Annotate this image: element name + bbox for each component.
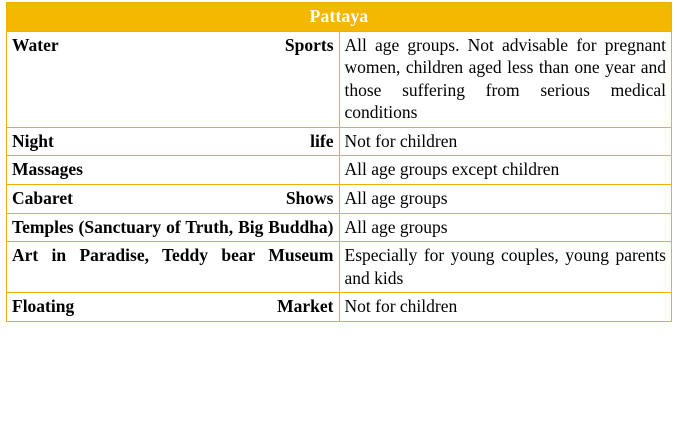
pattaya-activity-table: Pattaya Water Sports All age groups. Not… — [6, 2, 672, 322]
activity-label: Water Sports — [12, 35, 334, 55]
detail-text: All age groups — [345, 188, 448, 208]
activity-name-cell: Art in Paradise, Teddy bear Museum — [7, 242, 340, 293]
table-row: Massages All age groups except children — [7, 156, 672, 185]
table-row: Floating Market Not for children — [7, 293, 672, 322]
detail-text: All age groups except children — [345, 159, 560, 179]
activity-detail-cell: All age groups. Not advisable for pregna… — [339, 31, 672, 127]
activity-detail-cell: Not for children — [339, 127, 672, 156]
activity-name-cell: Massages — [7, 156, 340, 185]
activity-detail-cell: All age groups — [339, 184, 672, 213]
activity-detail-cell: Especially for young couples, young pare… — [339, 242, 672, 293]
activity-detail-cell: All age groups — [339, 213, 672, 242]
activity-detail-cell: Not for children — [339, 293, 672, 322]
table-body: Water Sports All age groups. Not advisab… — [7, 31, 672, 321]
detail-text: Not for children — [345, 296, 458, 316]
table-header-row: Pattaya — [7, 3, 672, 32]
table-title: Pattaya — [7, 3, 672, 32]
table-row: Night life Not for children — [7, 127, 672, 156]
detail-text: Not for children — [345, 131, 458, 151]
activity-name-cell: Water Sports — [7, 31, 340, 127]
activity-label: Cabaret Shows — [12, 188, 334, 208]
activity-name-cell: Temples (Sanctuary of Truth, Big Buddha) — [7, 213, 340, 242]
activity-label: Art in Paradise, Teddy bear Museum — [12, 245, 334, 265]
activity-label: Massages — [12, 159, 83, 179]
detail-text: All age groups. Not advisable for pregna… — [345, 35, 667, 123]
table-row: Art in Paradise, Teddy bear Museum Espec… — [7, 242, 672, 293]
activity-name-cell: Floating Market — [7, 293, 340, 322]
detail-text: Especially for young couples, young pare… — [345, 245, 667, 288]
activity-label: Floating Market — [12, 296, 334, 316]
activity-label: Night life — [12, 131, 334, 151]
table-row: Temples (Sanctuary of Truth, Big Buddha)… — [7, 213, 672, 242]
table-head: Pattaya — [7, 3, 672, 32]
detail-text: All age groups — [345, 217, 448, 237]
table-row: Cabaret Shows All age groups — [7, 184, 672, 213]
table-row: Water Sports All age groups. Not advisab… — [7, 31, 672, 127]
activity-detail-cell: All age groups except children — [339, 156, 672, 185]
activity-name-cell: Cabaret Shows — [7, 184, 340, 213]
activity-table-container: Pattaya Water Sports All age groups. Not… — [0, 0, 677, 434]
activity-name-cell: Night life — [7, 127, 340, 156]
activity-label: Temples (Sanctuary of Truth, Big Buddha) — [12, 217, 334, 237]
